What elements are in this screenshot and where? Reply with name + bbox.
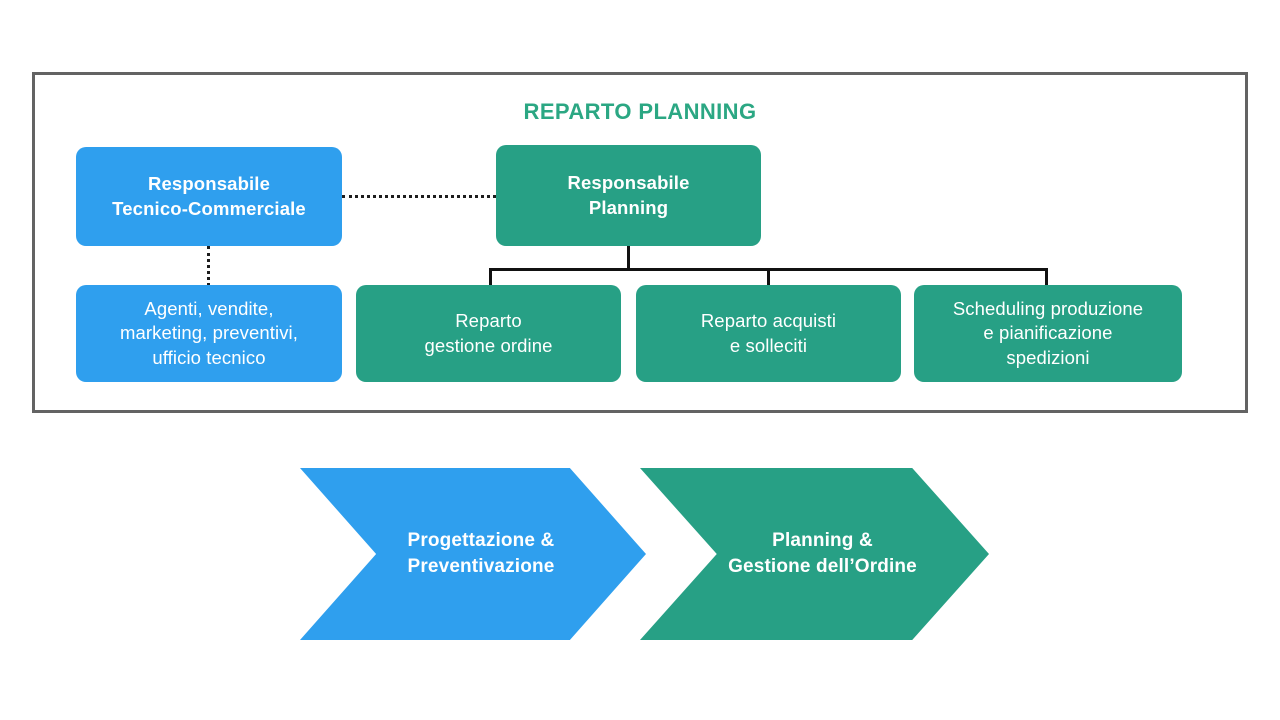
connector-tecnico-to-agenti (207, 246, 210, 286)
node-label: Agenti, vendite, marketing, preventivi, … (120, 297, 298, 370)
node-responsabile-tecnico-commerciale[interactable]: Responsabile Tecnico-Commerciale (76, 147, 342, 246)
node-reparto-gestione-ordine[interactable]: Reparto gestione ordine (356, 285, 621, 382)
flow-step-planning-gestione-ordine[interactable]: Planning & Gestione dell’Ordine (640, 468, 989, 640)
node-label: Reparto acquisti e solleciti (701, 309, 836, 358)
flow-step-progettazione-preventivazione[interactable]: Progettazione & Preventivazione (300, 468, 646, 640)
node-agenti-vendite[interactable]: Agenti, vendite, marketing, preventivi, … (76, 285, 342, 382)
page-title: REPARTO PLANNING (35, 99, 1245, 125)
node-reparto-acquisti[interactable]: Reparto acquisti e solleciti (636, 285, 901, 382)
node-label: Reparto gestione ordine (424, 309, 552, 358)
node-label: Responsabile Tecnico-Commerciale (112, 172, 306, 221)
flow-step-label: Progettazione & Preventivazione (408, 528, 555, 580)
flow-step-label: Planning & Gestione dell’Ordine (728, 528, 917, 580)
diagram-canvas: REPARTO PLANNING Responsabile Tecnico-Co… (0, 0, 1280, 720)
connector-planning-stem (627, 246, 630, 269)
node-responsabile-planning[interactable]: Responsabile Planning (496, 145, 761, 246)
node-label: Responsabile Planning (567, 171, 689, 220)
connector-tecnico-to-planning (342, 195, 496, 198)
node-label: Scheduling produzione e pianificazione s… (953, 297, 1143, 370)
node-scheduling-produzione[interactable]: Scheduling produzione e pianificazione s… (914, 285, 1182, 382)
